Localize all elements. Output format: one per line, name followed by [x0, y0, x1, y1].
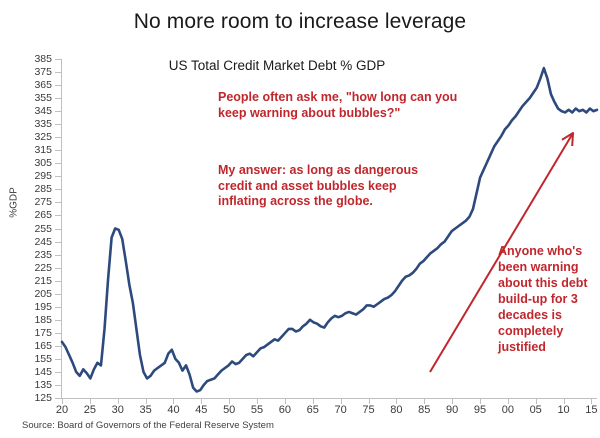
annotation-answer: My answer: as long as dangerous credit a…: [218, 163, 433, 210]
annotation-question: People often ask me, "how long can you k…: [218, 90, 458, 121]
source-note: Source: Board of Governors of the Federa…: [22, 420, 274, 431]
chart-container: No more room to increase leverage US Tot…: [0, 0, 600, 438]
annotation-conclusion: Anyone who's been warning about this deb…: [498, 243, 600, 355]
data-series-layer: [0, 0, 600, 438]
